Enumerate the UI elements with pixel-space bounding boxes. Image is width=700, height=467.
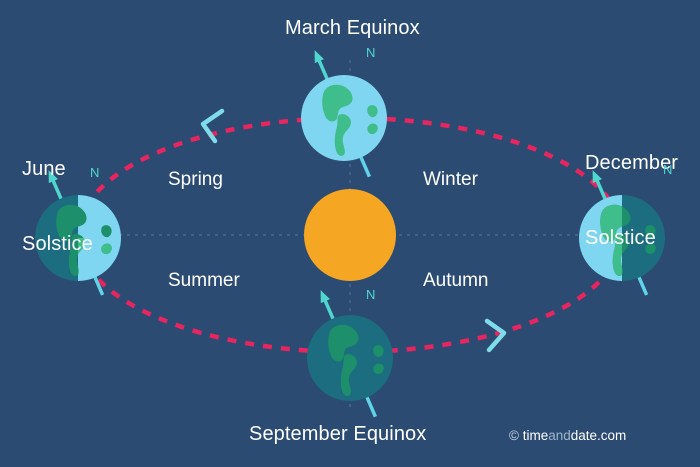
north-pole-marker-september: N [366,288,375,302]
north-pole-marker-march: N [366,46,375,60]
credit-part-date: date.com [571,428,627,443]
sun [304,189,396,281]
copyright-symbol: © [509,428,519,443]
earth-september-equinox [307,288,393,419]
orbit-arrow-left-icon [203,111,222,141]
earth-march-equinox [301,48,387,179]
season-label-summer: Summer [168,269,240,292]
label-june-solstice: June Solstice [22,107,93,307]
credit-watermark: © timeanddate.com [509,428,626,444]
season-label-autumn: Autumn [423,269,488,292]
earth-axis-north-september [316,288,338,321]
earth-axis-south-september [367,397,376,417]
label-december-solstice-line2: Solstice [585,226,678,251]
north-pole-marker-december: N [663,163,672,177]
label-march-equinox: March Equinox [285,16,420,41]
north-pole-marker-june: N [90,166,99,180]
earth-axis-north-march [310,48,332,81]
earth-axis-south-march [361,157,370,177]
credit-part-time: time [523,428,549,443]
label-september-equinox: September Equinox [249,422,426,447]
seasons-diagram: March Equinox June Solstice December Sol… [0,0,700,467]
credit-part-and: and [548,428,571,443]
season-label-winter: Winter [423,168,478,191]
label-december-solstice: December Solstice [585,101,678,301]
orbit-arrow-right-icon [487,321,504,350]
earth-axis-south-june [95,277,103,295]
label-june-solstice-line1: June [22,157,93,182]
season-label-spring: Spring [168,168,223,191]
label-june-solstice-line2: Solstice [22,232,93,257]
